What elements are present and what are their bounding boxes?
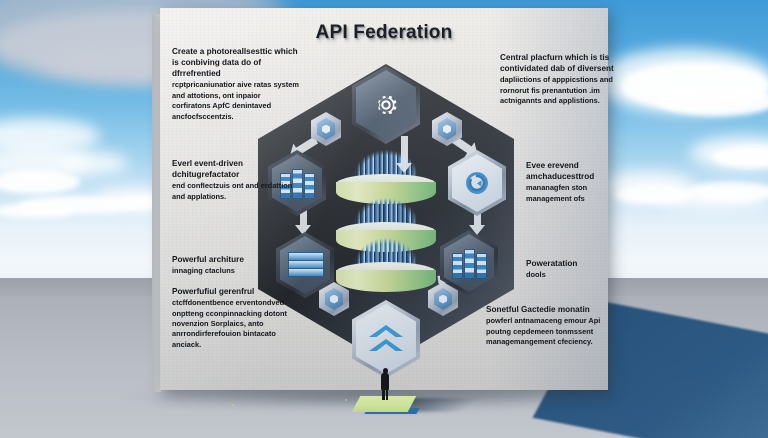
text-body: dapliictions of apppicstions and rornoru… [500, 75, 620, 106]
chevron-inner [356, 304, 416, 374]
sync-gear-icon [462, 168, 492, 198]
node-inner [434, 288, 452, 310]
person-body [381, 373, 389, 390]
ground-speck [232, 404, 234, 406]
ground-speck [345, 399, 347, 401]
data-disc [336, 262, 436, 296]
data-disc-stack [336, 148, 436, 298]
gear-icon [371, 90, 401, 120]
server-spikes [343, 196, 429, 224]
node-inner [325, 288, 343, 310]
text-head: Evee erevend amchaducesttrod [526, 160, 618, 182]
chevron-up-icon [369, 325, 403, 353]
page-title: API Federation [0, 22, 768, 44]
scene: API Federation Create a photoreallsestti… [0, 0, 768, 438]
text-head: Create a photoreallsesttic which is conb… [172, 46, 300, 79]
text-block-left-4: Powerfufiul gerenfrul ctcffdonentbence e… [172, 286, 300, 351]
hexagon-node-icon [330, 295, 338, 304]
server-rack-icon [452, 249, 486, 277]
arrow-down [401, 136, 408, 164]
text-body: dools [526, 270, 618, 280]
text-head: Central placfurn which is tis contividat… [500, 52, 620, 74]
text-head: Sonetful Gactedie monatin [486, 304, 622, 315]
text-body: end confIectzuis ont and erdattion and a… [172, 181, 300, 202]
text-body: innaging ctacluns [172, 266, 300, 276]
text-block-right-1: Central placfurn which is tis contividat… [500, 52, 620, 107]
server-rack-inner [444, 234, 494, 292]
hexagon-node-icon [322, 125, 330, 134]
text-head: Powerful architure [172, 254, 300, 265]
text-block-left-1: Create a photoreallsesttic which is conb… [172, 46, 300, 123]
sync-gear-inner [452, 154, 502, 212]
text-block-right-3: Poweratation dools [526, 258, 618, 282]
text-block-right-2: Evee erevend amchaducesttrod mananagfen … [526, 160, 618, 205]
text-body: mananagfen ston management ofs [526, 183, 618, 204]
hexagon-node-icon [443, 125, 451, 134]
text-head: Everl event-driven dchitugrefactator [172, 158, 300, 180]
person-leg-left [382, 389, 385, 400]
text-body: rcptpricaniunatior aive ratas system and… [172, 80, 300, 121]
server-spikes [343, 148, 429, 176]
node-inner [438, 118, 456, 140]
text-block-right-4: Sonetful Gactedie monatin powferl antnam… [486, 304, 622, 348]
text-block-left-3: Powerful architure innaging ctacluns [172, 254, 300, 278]
text-block-left-2: Everl event-driven dchitugrefactator end… [172, 158, 300, 203]
person-leg-right [386, 389, 389, 400]
text-head: Powerfufiul gerenfrul [172, 286, 300, 297]
node-inner [317, 118, 335, 140]
text-body: ctcffdonentbence erventondved onptteng c… [172, 298, 300, 350]
text-head: Poweratation [526, 258, 618, 269]
person-silhouette [380, 368, 390, 400]
text-body: powferl antnamaceng emour Api poutng cep… [486, 316, 622, 347]
disc-body [336, 270, 436, 292]
hexagon-node-icon [439, 295, 447, 304]
gear-node-inner [356, 70, 416, 140]
